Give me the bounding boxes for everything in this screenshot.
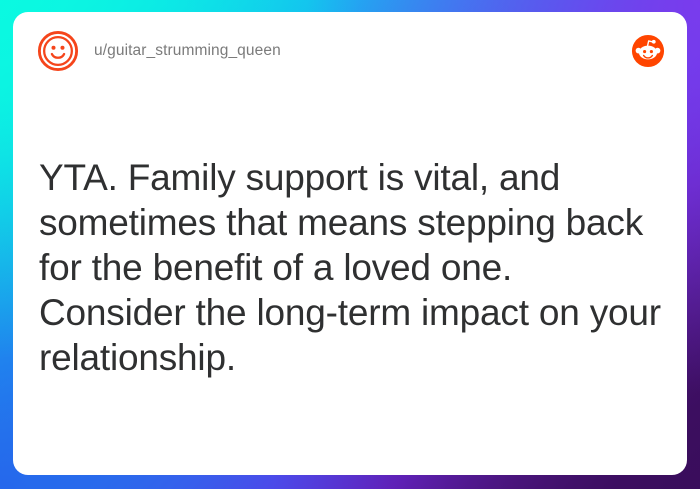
post-body: YTA. Family support is vital, and someti… [39,155,663,380]
gradient-background: u/guitar_strumming_queen [0,0,700,489]
reddit-post-card: u/guitar_strumming_queen [13,12,687,475]
post-text: YTA. Family support is vital, and someti… [39,155,663,380]
smiley-face-avatar-icon [37,30,79,72]
post-header: u/guitar_strumming_queen [13,12,687,90]
reddit-snoo-logo-icon [631,34,665,68]
reddit-brand-logo[interactable] [631,34,665,68]
avatar[interactable] [37,30,79,72]
username-label: u/guitar_strumming_queen [94,42,281,60]
